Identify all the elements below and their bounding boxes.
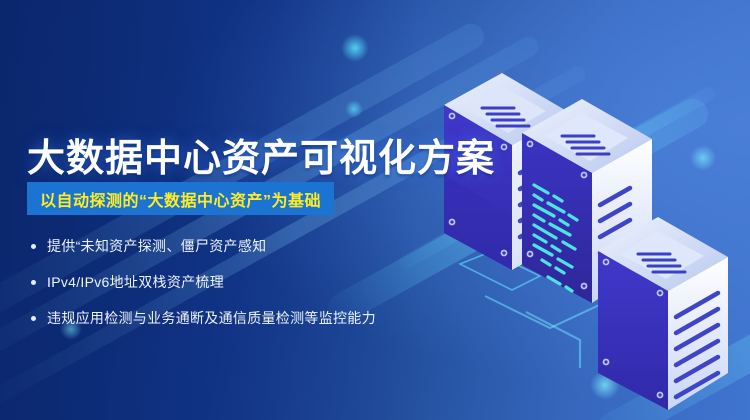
subtitle-banner: 以自动探测的“大数据中心资产”为基础 [27,182,334,215]
server-rack-right [598,217,728,410]
banner-copy: 大数据中心资产可视化方案 以自动探测的“大数据中心资产”为基础 提供“未知资产探… [0,0,470,420]
list-item-label: IPv4/IPv6地址双栈资产梳理 [47,272,224,292]
server-racks-illustration [430,55,750,415]
list-item-label: 提供“未知资产探测、僵尸资产感知 [47,236,266,256]
bullet-dot-icon [31,244,36,249]
marketing-banner: 大数据中心资产可视化方案 以自动探测的“大数据中心资产”为基础 提供“未知资产探… [0,0,750,420]
list-item: 提供“未知资产探测、僵尸资产感知 [28,236,376,256]
page-title: 大数据中心资产可视化方案 [27,127,495,182]
subtitle-text: 以自动探测的“大数据中心资产”为基础 [40,187,321,211]
list-item-label: 违规应用检测与业务通断及通信质量检测等监控能力 [47,308,376,328]
feature-list: 提供“未知资产探测、僵尸资产感知 IPv4/IPv6地址双栈资产梳理 违规应用检… [28,236,376,344]
list-item: 违规应用检测与业务通断及通信质量检测等监控能力 [28,308,376,328]
bullet-dot-icon [31,316,36,321]
list-item: IPv4/IPv6地址双栈资产梳理 [28,272,376,292]
bullet-dot-icon [31,280,36,285]
